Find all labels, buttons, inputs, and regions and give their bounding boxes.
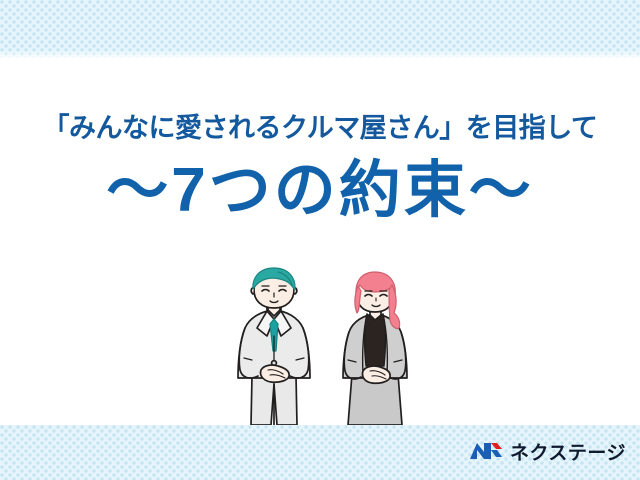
headline-block: 「みんなに愛されるクルマ屋さん」を目指して 〜7つの約束〜: [0, 112, 640, 223]
nextage-n-logo-icon: [469, 440, 503, 467]
headline-subtitle: 「みんなに愛されるクルマ屋さん」を目指して: [0, 112, 640, 144]
brand-logo: ネクステージ: [469, 440, 626, 467]
two-staff-bowing-illustration: [228, 266, 428, 425]
headline-title: 〜7つの約束〜: [0, 158, 640, 223]
brand-logo-text: ネクステージ: [510, 444, 626, 463]
male-staff-figure: [238, 268, 310, 425]
dotted-band-top: [0, 0, 640, 58]
promo-banner: 「みんなに愛されるクルマ屋さん」を目指して 〜7つの約束〜: [0, 0, 640, 480]
female-staff-figure: [343, 272, 407, 425]
